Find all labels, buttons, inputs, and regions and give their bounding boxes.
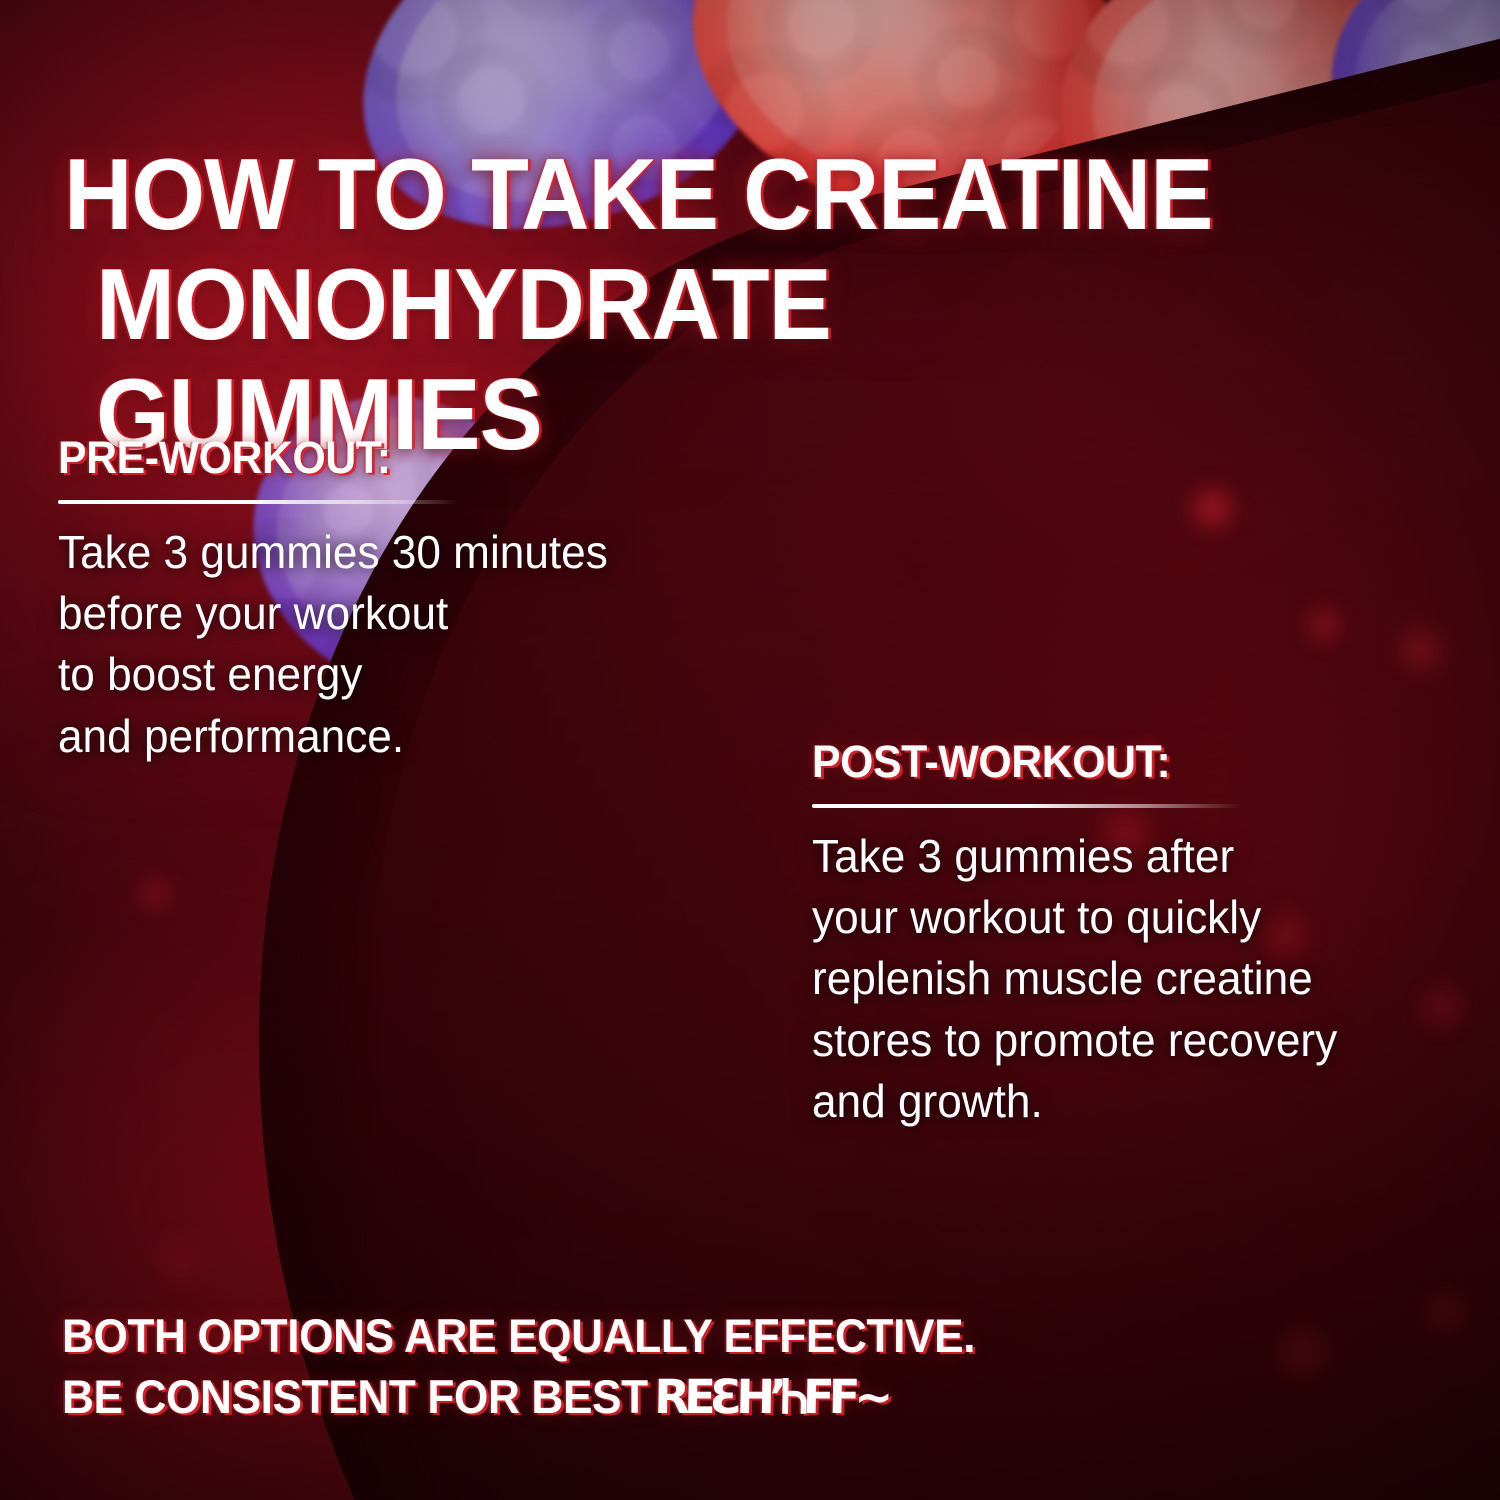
footer-line-2-prefix: BE CONSISTENT FOR BEST bbox=[62, 1370, 660, 1423]
title-line-1: HOW TO TAKE CREATINE bbox=[64, 139, 1212, 251]
pre-workout-heading: PRE-WORKOUT: bbox=[58, 432, 780, 484]
footer-line-1: BOTH OPTIONS ARE EQUALLY EFFECTIVE. bbox=[62, 1309, 975, 1362]
pre-workout-underline bbox=[58, 500, 458, 504]
footer-line-2: BE CONSISTENT FOR BEST REƐHʼᏂFF~ bbox=[62, 1366, 1322, 1428]
post-workout-body: Take 3 gummies after your workout to qui… bbox=[812, 826, 1465, 1132]
post-workout-heading: POST-WORKOUT: bbox=[812, 736, 1458, 788]
section-post-workout: POST-WORKOUT: Take 3 gummies after your … bbox=[812, 736, 1492, 1132]
post-workout-underline bbox=[812, 804, 1242, 808]
section-pre-workout: PRE-WORKOUT: Take 3 gummies 30 minutes b… bbox=[58, 432, 818, 767]
poster-root: HOW TO TAKE CREATINE MONOHYDRATE GUMMIES… bbox=[0, 0, 1500, 1500]
footer-note: BOTH OPTIONS ARE EQUALLY EFFECTIVE. BE C… bbox=[62, 1305, 1322, 1428]
pre-workout-body: Take 3 gummies 30 minutes before your wo… bbox=[58, 522, 788, 767]
footer-garbled-word: REƐHʼᏂFF~ bbox=[654, 1367, 888, 1428]
page-title: HOW TO TAKE CREATINE MONOHYDRATE GUMMIES bbox=[64, 140, 1286, 470]
